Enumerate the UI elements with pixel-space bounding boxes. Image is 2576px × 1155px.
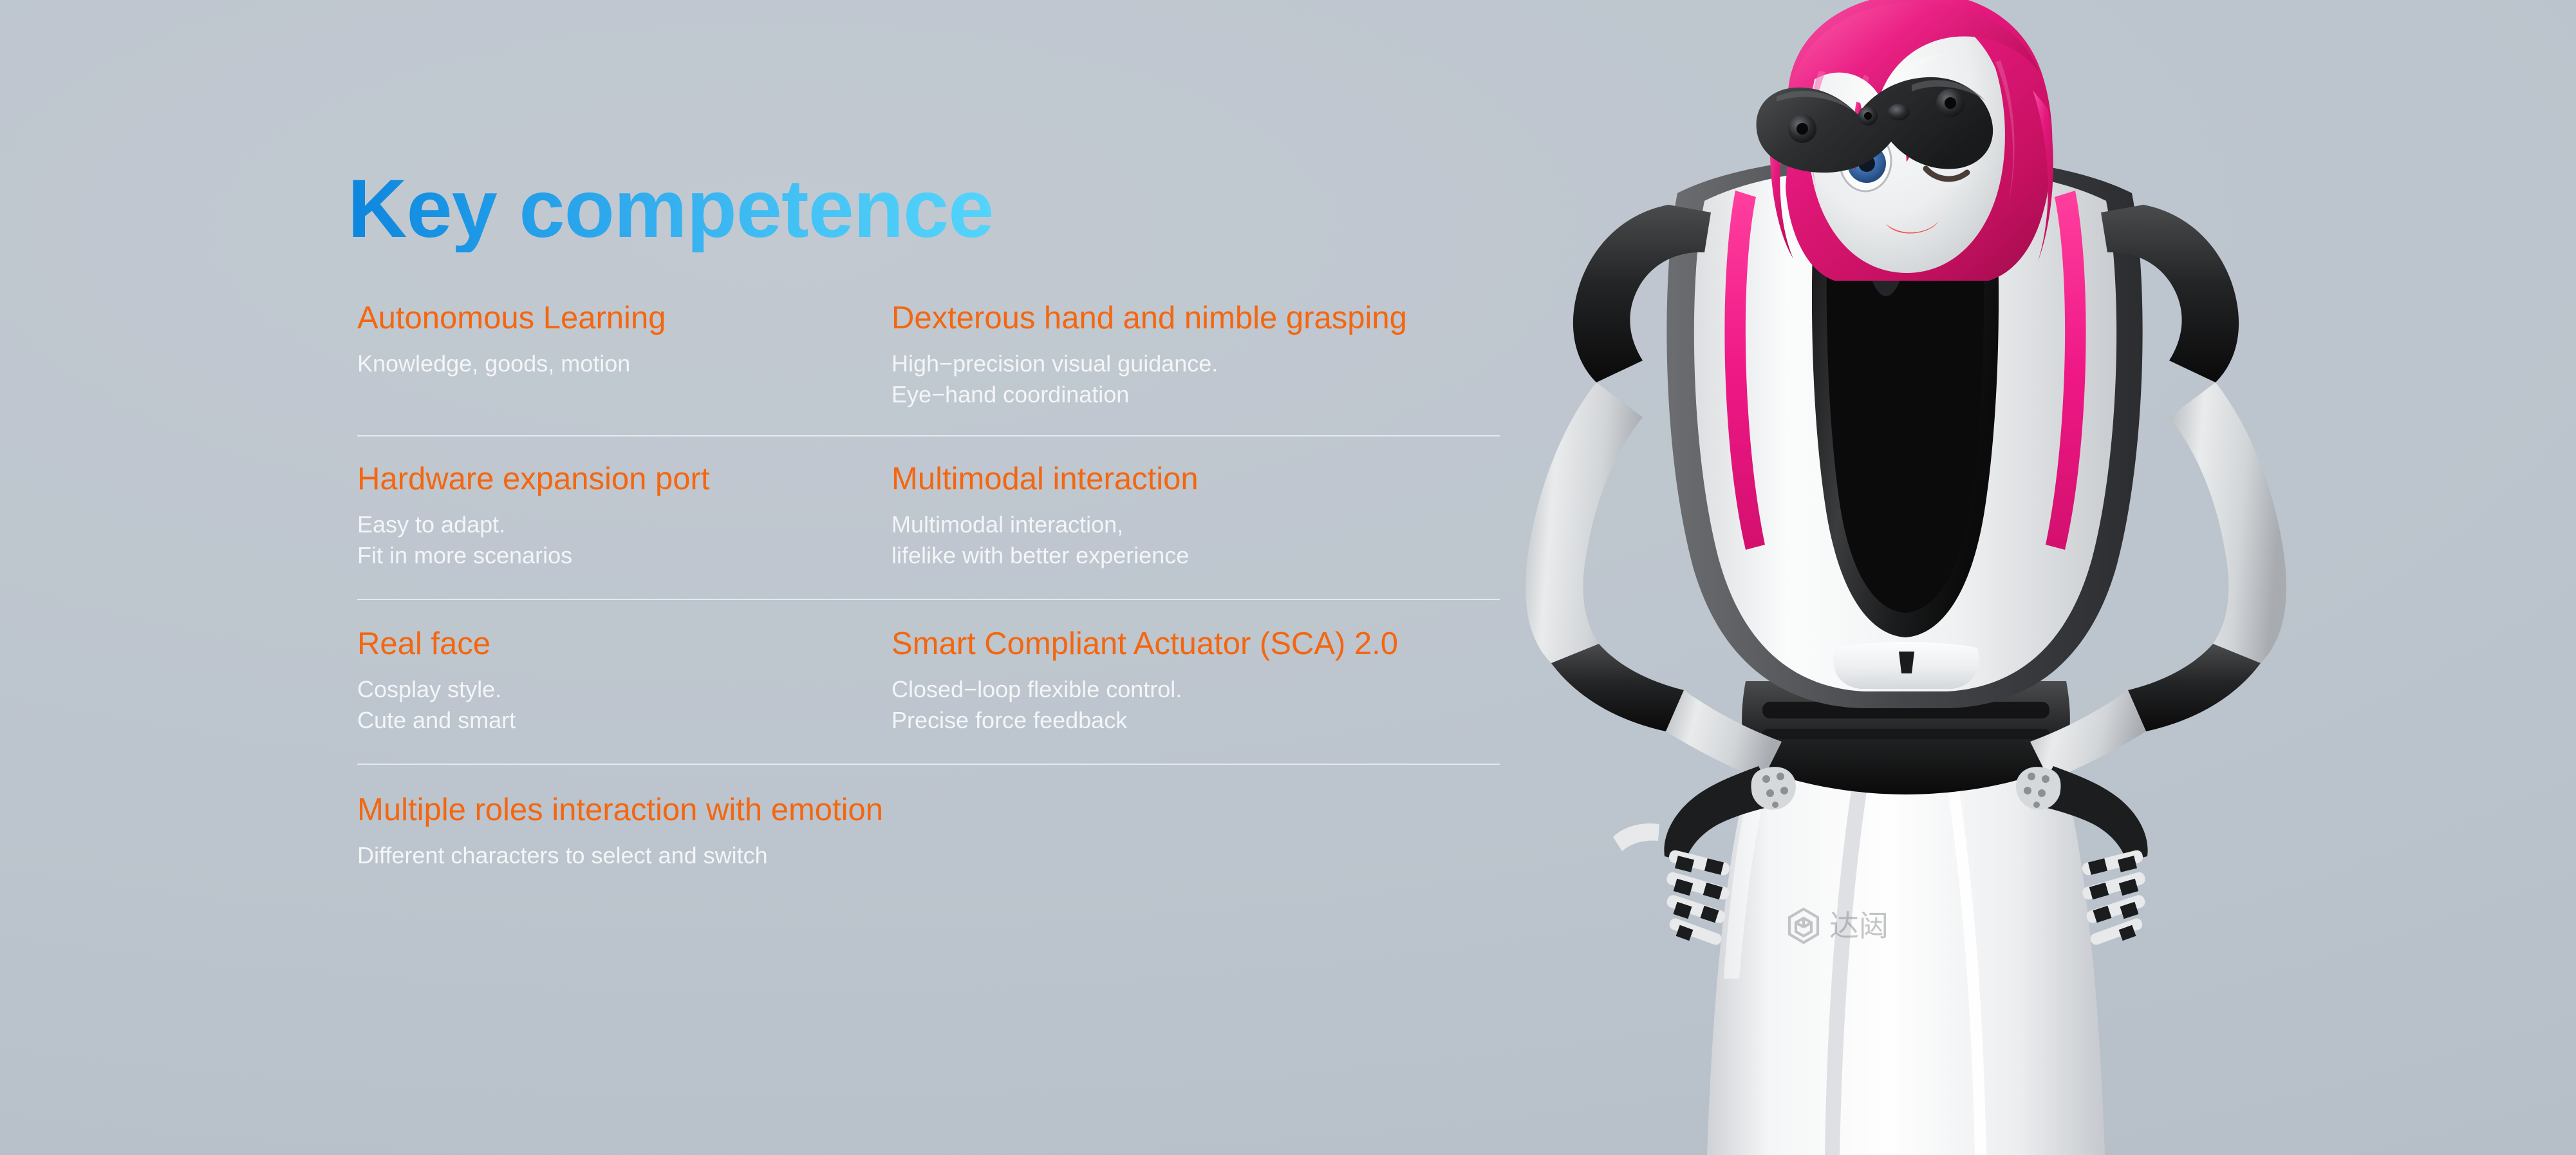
robot-lower-body — [1707, 758, 2105, 1155]
feature-subtext: Different characters to select and switc… — [357, 840, 1500, 871]
feature-cell: Autonomous Learning Knowledge, goods, mo… — [357, 303, 891, 409]
robot-fingers-right — [2081, 849, 2147, 946]
camera-lens-pupil — [1797, 123, 1808, 135]
feature-subtext-line: lifelike with better experience — [891, 540, 1500, 571]
feature-subtext-line: Fit in more scenarios — [357, 540, 891, 571]
feature-subtext: Cosplay style. Cute and smart — [357, 674, 891, 735]
feature-subtext-line: Closed−loop flexible control. — [891, 674, 1500, 705]
feature-row: Real face Cosplay style. Cute and smart … — [357, 600, 1500, 764]
feature-subtext-line: Cute and smart — [357, 705, 891, 736]
feature-subtext-line: Eye−hand coordination — [891, 379, 1500, 410]
robot-elbow-left — [1551, 644, 1684, 731]
feature-cell: Smart Compliant Actuator (SCA) 2.0 Close… — [891, 628, 1500, 735]
feature-cell: Hardware expansion port Easy to adapt. F… — [357, 464, 891, 570]
robot-thumb-left — [1613, 823, 1659, 851]
feature-subtext: Knowledge, goods, motion — [357, 348, 891, 379]
feature-cell: Multimodal interaction Multimodal intera… — [891, 464, 1500, 570]
brand-logo-text: 达闼 — [1829, 908, 1889, 943]
camera-lens-pupil — [1864, 112, 1872, 120]
robot-upper-arm-right — [2169, 382, 2286, 663]
feature-heading: Multimodal interaction — [891, 464, 1500, 495]
feature-heading: Smart Compliant Actuator (SCA) 2.0 — [891, 628, 1500, 660]
feature-subtext-line: High−precision visual guidance. — [891, 348, 1500, 379]
slide-canvas: Key competence Autonomous Learning Knowl… — [0, 0, 2576, 1155]
feature-subtext: Closed−loop flexible control. Precise fo… — [891, 674, 1500, 735]
robot-chest-port — [1899, 652, 1914, 673]
page-title: Key competence — [348, 166, 993, 252]
feature-heading: Real face — [357, 628, 891, 660]
feature-cell: Multiple roles interaction with emotion … — [357, 794, 1500, 871]
feature-cell: Real face Cosplay style. Cute and smart — [357, 628, 891, 735]
robot-waist-slot-2 — [1762, 729, 2049, 739]
sensor-window-icon — [1888, 104, 1910, 120]
robot-elbow-right — [2128, 644, 2261, 731]
robot-fingers-left — [1665, 849, 1731, 946]
feature-subtext: High−precision visual guidance. Eye−hand… — [891, 348, 1500, 409]
feature-subtext: Multimodal interaction, lifelike with be… — [891, 509, 1500, 570]
feature-heading: Multiple roles interaction with emotion — [357, 794, 1500, 826]
feature-heading: Autonomous Learning — [357, 303, 891, 334]
feature-row: Autonomous Learning Knowledge, goods, mo… — [357, 303, 1500, 435]
feature-subtext-line: Easy to adapt. — [357, 509, 891, 540]
camera-lens-pupil — [1945, 97, 1956, 109]
feature-row: Multiple roles interaction with emotion … — [357, 765, 1500, 871]
feature-heading: Dexterous hand and nimble grasping — [891, 303, 1500, 334]
robot-upper-arm-left — [1526, 382, 1643, 663]
feature-subtext-line: Cosplay style. — [357, 674, 891, 705]
feature-subtext-line: Precise force feedback — [891, 705, 1500, 736]
feature-heading: Hardware expansion port — [357, 464, 891, 495]
feature-subtext-line: Different characters to select and switc… — [357, 840, 1500, 871]
feature-subtext-line: Knowledge, goods, motion — [357, 348, 891, 379]
robot-illustration: 达闼 — [1500, 0, 2576, 1155]
feature-subtext-line: Multimodal interaction, — [891, 509, 1500, 540]
feature-subtext: Easy to adapt. Fit in more scenarios — [357, 509, 891, 570]
feature-cell: Dexterous hand and nimble grasping High−… — [891, 303, 1500, 409]
feature-grid: Autonomous Learning Knowledge, goods, mo… — [357, 303, 1500, 871]
feature-row: Hardware expansion port Easy to adapt. F… — [357, 437, 1500, 599]
